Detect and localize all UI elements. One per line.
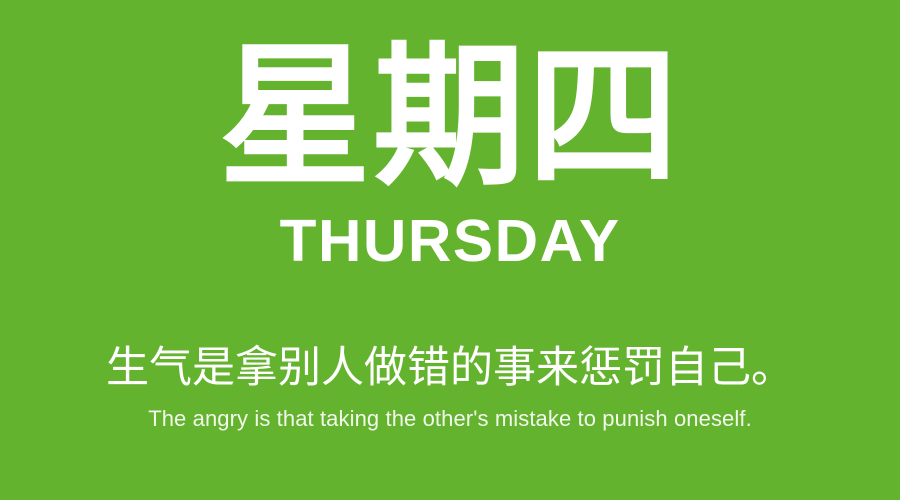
- weekday-chinese-title: 星期四: [219, 40, 681, 195]
- quote-chinese-text: 生气是拿别人做错的事来惩罚自己。: [106, 342, 794, 394]
- daily-quote-card: 星期四 THURSDAY 生气是拿别人做错的事来惩罚自己。 The angry …: [0, 0, 900, 500]
- weekday-english-title: THURSDAY: [279, 212, 620, 271]
- weekday-block: 星期四 THURSDAY: [0, 40, 900, 271]
- quote-english-text: The angry is that taking the other's mis…: [148, 404, 752, 434]
- quote-block: 生气是拿别人做错的事来惩罚自己。 The angry is that takin…: [0, 342, 900, 434]
